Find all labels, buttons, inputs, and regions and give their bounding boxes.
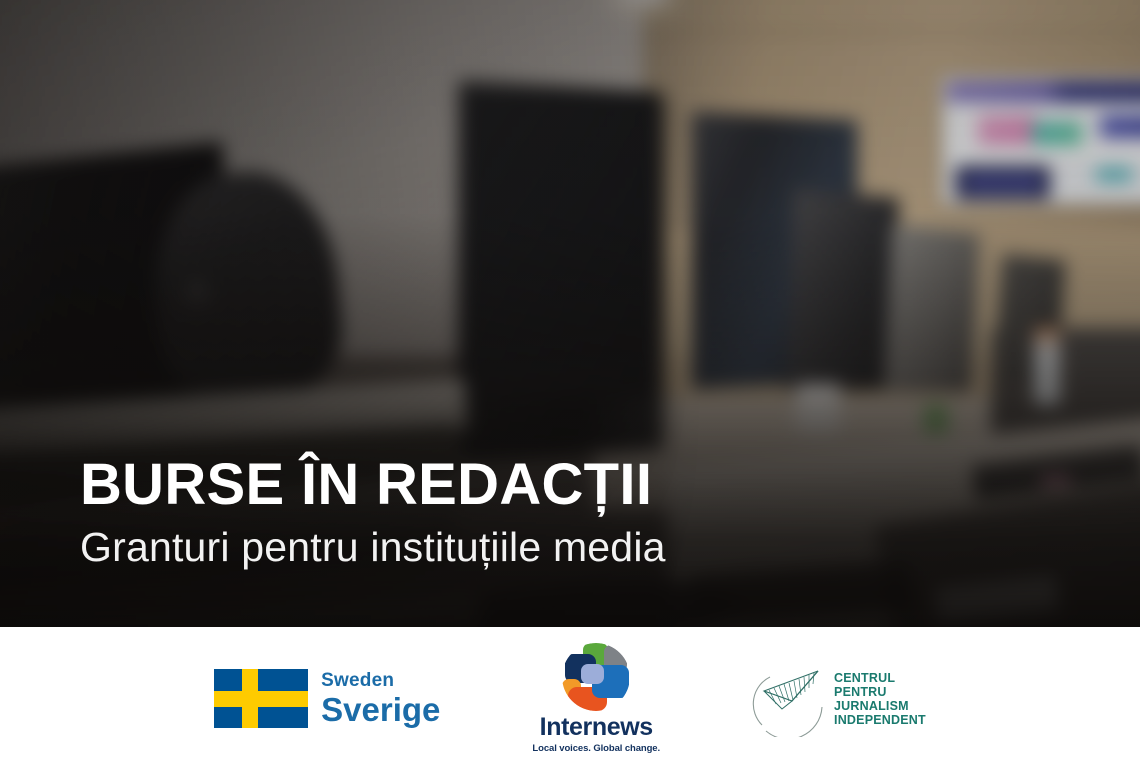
- internews-logo[interactable]: Internews Local voices. Global change.: [532, 643, 660, 754]
- hero-banner: BURSE ÎN REDACȚII Granturi pentru instit…: [0, 0, 1140, 627]
- cji-line-3: JURNALISM: [834, 699, 926, 713]
- cji-line-2: PENTRU: [834, 685, 926, 699]
- page-subtitle: Granturi pentru instituțiile media: [80, 526, 666, 569]
- swedish-flag-icon: [214, 669, 308, 728]
- sponsor-logo-bar: Sweden Sverige Internews Local voices. G…: [0, 627, 1140, 770]
- centrul-pentru-jurnalism-independent-logo[interactable]: CENTRUL PENTRU JURNALISM INDEPENDENT: [752, 661, 926, 737]
- cji-line-1: CENTRUL: [834, 671, 926, 685]
- cji-wordmark: CENTRUL PENTRU JURNALISM INDEPENDENT: [834, 671, 926, 727]
- paper-plane-icon: [752, 661, 828, 737]
- flag-cross-horizontal: [214, 691, 308, 707]
- internews-wordmark: Internews: [540, 715, 653, 740]
- internews-circle-clip: [562, 643, 630, 711]
- hero-copy: BURSE ÎN REDACȚII Granturi pentru instit…: [80, 455, 666, 569]
- cji-line-4: INDEPENDENT: [834, 713, 926, 727]
- sweden-label-en: Sweden: [321, 671, 440, 690]
- internews-tagline: Local voices. Global change.: [532, 744, 660, 754]
- page-title: BURSE ÎN REDACȚII: [80, 455, 666, 514]
- sweden-wordmark: Sweden Sverige: [321, 671, 440, 726]
- sweden-label-sv: Sverige: [321, 693, 440, 726]
- sweden-sverige-logo[interactable]: Sweden Sverige: [214, 669, 440, 728]
- internews-mark-icon: [562, 643, 630, 711]
